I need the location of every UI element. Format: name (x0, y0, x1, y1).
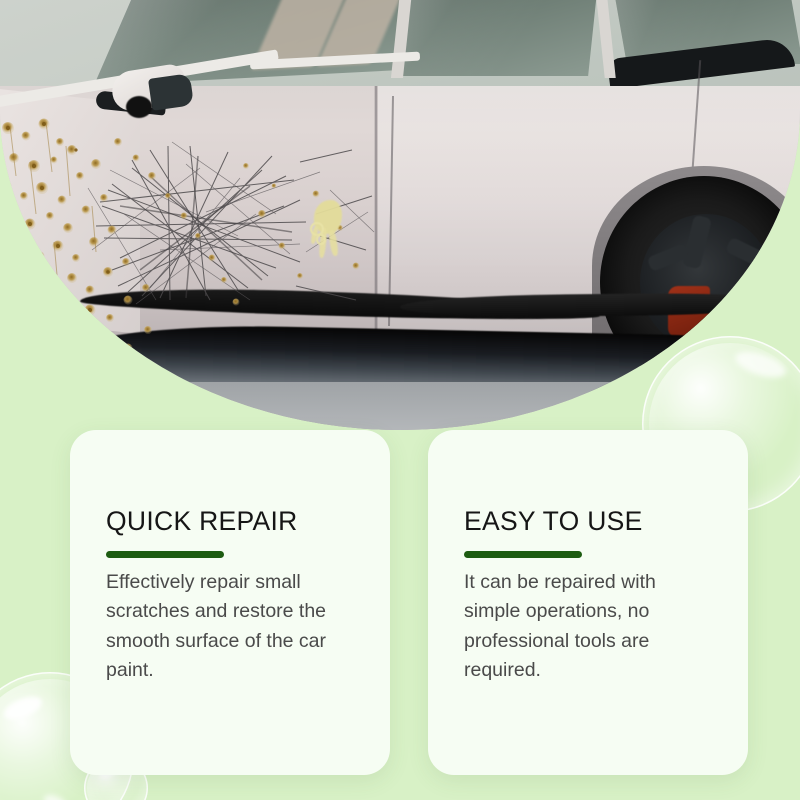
feature-card-quick-repair: QUICK REPAIR Effectively repair small sc… (70, 430, 390, 775)
card-body-text: Effectively repair small scratches and r… (106, 568, 356, 687)
card-title: EASY TO USE (464, 508, 714, 535)
feature-card-easy-to-use: EASY TO USE It can be repaired with simp… (428, 430, 748, 775)
card-accent-rule (106, 551, 224, 558)
card-body-text: It can be repaired with simple operation… (464, 568, 714, 687)
card-title: QUICK REPAIR (106, 508, 356, 535)
feature-card-row: QUICK REPAIR Effectively repair small sc… (0, 0, 800, 800)
banner-stage: QUICK REPAIR Effectively repair small sc… (0, 0, 800, 800)
card-accent-rule (464, 551, 582, 558)
